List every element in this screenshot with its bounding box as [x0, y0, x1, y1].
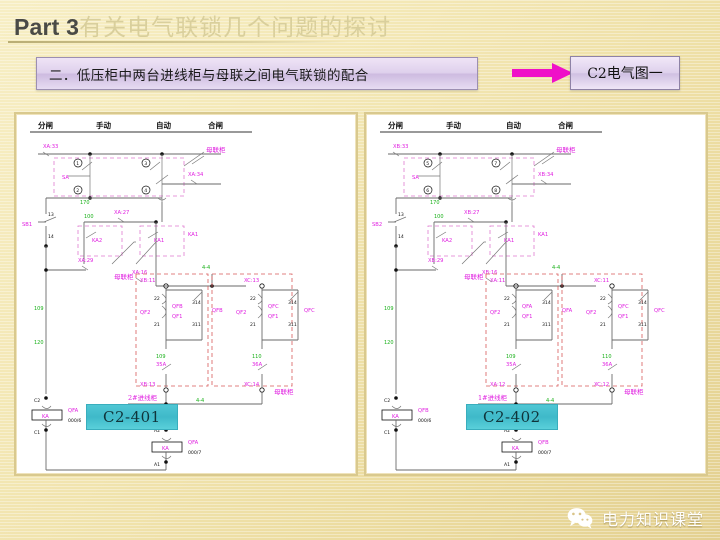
svg-text:KA1: KA1	[188, 232, 198, 238]
svg-text:314: 314	[288, 300, 297, 306]
svg-text:母联柜: 母联柜	[464, 272, 484, 281]
svg-text:QF1: QF1	[522, 314, 532, 320]
svg-text:XC:13: XC:13	[244, 278, 259, 284]
svg-text:4-4: 4-4	[196, 398, 204, 404]
svg-text:13: 13	[48, 212, 54, 218]
svg-text:KA: KA	[162, 446, 169, 452]
svg-text:QFC: QFC	[304, 308, 315, 314]
arrow-icon	[512, 62, 574, 84]
svg-text:120: 120	[34, 340, 44, 346]
svg-text:KA2: KA2	[442, 238, 452, 244]
svg-text:7: 7	[494, 161, 497, 167]
svg-text:13: 13	[398, 212, 404, 218]
svg-text:2#进线柜: 2#进线柜	[128, 393, 158, 402]
svg-text:110: 110	[252, 354, 262, 360]
brand-label: 电力知识课堂	[602, 506, 704, 530]
svg-text:6: 6	[426, 188, 429, 194]
svg-text:109: 109	[34, 306, 44, 312]
svg-text:311: 311	[192, 322, 201, 328]
callout-c2-button[interactable]: C2电气图一	[570, 56, 680, 90]
svg-text:100: 100	[434, 214, 444, 220]
svg-text:手动: 手动	[96, 120, 111, 130]
svg-text:QF2: QF2	[236, 310, 246, 316]
svg-text:8: 8	[494, 188, 497, 194]
svg-text:KA: KA	[392, 414, 399, 420]
svg-text:1#进线柜: 1#进线柜	[478, 393, 508, 402]
svg-text:000/6: 000/6	[418, 418, 431, 424]
title-part-label: Part 3	[14, 14, 79, 40]
svg-text:170: 170	[80, 200, 90, 206]
svg-text:110: 110	[602, 354, 612, 360]
svg-text:109: 109	[384, 306, 394, 312]
svg-text:314: 314	[542, 300, 551, 306]
svg-text:合闸: 合闸	[208, 120, 223, 130]
svg-text:21: 21	[504, 322, 510, 328]
svg-text:XA:11: XA:11	[490, 278, 505, 284]
svg-text:36A: 36A	[252, 362, 263, 368]
svg-text:314: 314	[192, 300, 201, 306]
svg-text:21: 21	[250, 322, 256, 328]
diagram-panel-c2-401[interactable]: 分闸 手动 自动 合闸 XA:33 1 3 2 4 SA	[14, 112, 358, 476]
svg-text:QFA: QFA	[522, 304, 533, 310]
svg-text:C2: C2	[34, 398, 40, 404]
svg-text:22: 22	[504, 296, 510, 302]
svg-text:QF2: QF2	[490, 310, 500, 316]
svg-text:合闸: 合闸	[558, 120, 573, 130]
svg-text:XA:27: XA:27	[114, 210, 129, 216]
svg-text:C1: C1	[384, 430, 390, 436]
title-chinese-label: 有关电气联锁几个问题的探讨	[79, 15, 391, 41]
svg-text:手动: 手动	[446, 120, 461, 130]
svg-text:XB:13: XB:13	[140, 382, 155, 388]
svg-text:QF1: QF1	[172, 314, 182, 320]
svg-text:1: 1	[76, 161, 79, 167]
callout-c2-label: C2电气图一	[587, 63, 663, 83]
svg-text:A1: A1	[154, 462, 160, 468]
svg-text:XB:27: XB:27	[464, 210, 479, 216]
svg-text:311: 311	[542, 322, 551, 328]
svg-text:KA1: KA1	[154, 238, 164, 244]
svg-text:母联柜: 母联柜	[114, 272, 134, 281]
svg-text:母联柜: 母联柜	[206, 145, 226, 154]
title-divider	[8, 41, 348, 43]
wechat-icon	[566, 506, 594, 530]
svg-text:314: 314	[638, 300, 647, 306]
svg-text:XB:16: XB:16	[482, 270, 497, 276]
svg-text:SB2: SB2	[372, 222, 382, 228]
svg-text:XA:34: XA:34	[188, 172, 204, 178]
svg-text:KA: KA	[42, 414, 49, 420]
svg-text:311: 311	[638, 322, 647, 328]
svg-text:XA:12: XA:12	[490, 382, 505, 388]
svg-text:XC:11: XC:11	[594, 278, 609, 284]
subtitle-bar: 二．低压柜中两台进线柜与母联之间电气联锁的配合	[36, 57, 478, 90]
svg-text:分闸: 分闸	[388, 120, 403, 130]
svg-text:22: 22	[600, 296, 606, 302]
svg-text:000/6: 000/6	[68, 418, 81, 424]
svg-text:QF1: QF1	[618, 314, 628, 320]
svg-text:35A: 35A	[506, 362, 517, 368]
svg-text:22: 22	[154, 296, 160, 302]
svg-text:母联柜: 母联柜	[624, 387, 644, 396]
svg-text:C1: C1	[34, 430, 40, 436]
svg-text:4-4: 4-4	[552, 265, 560, 271]
svg-text:母联柜: 母联柜	[556, 145, 576, 154]
svg-text:SB1: SB1	[22, 222, 32, 228]
svg-text:QF2: QF2	[586, 310, 596, 316]
subtitle-text: 二．低压柜中两台进线柜与母联之间电气联锁的配合	[37, 64, 369, 84]
svg-text:分闸: 分闸	[38, 120, 53, 130]
svg-text:QFB: QFB	[538, 440, 549, 446]
svg-text:C2: C2	[384, 398, 390, 404]
svg-text:QFC: QFC	[654, 308, 665, 314]
svg-text:14: 14	[398, 234, 404, 240]
svg-text:21: 21	[600, 322, 606, 328]
svg-text:KA1: KA1	[504, 238, 514, 244]
panel-tag-c2-402: C2-402	[466, 404, 558, 430]
svg-text:KA1: KA1	[538, 232, 548, 238]
svg-text:QFC: QFC	[618, 304, 629, 310]
svg-text:XA:33: XA:33	[43, 144, 58, 150]
svg-text:000/7: 000/7	[538, 450, 551, 456]
svg-text:109: 109	[156, 354, 166, 360]
diagram-panel-c2-402[interactable]: 分闸 手动 自动 合闸 XB:33 5 7 6 8 SA	[364, 112, 708, 476]
svg-text:KA: KA	[512, 446, 519, 452]
svg-text:XA:29: XA:29	[78, 258, 93, 264]
svg-text:311: 311	[288, 322, 297, 328]
svg-text:母联柜: 母联柜	[274, 387, 294, 396]
svg-text:自动: 自动	[506, 120, 521, 130]
svg-text:4-4: 4-4	[202, 265, 210, 271]
slide-root: Part 3有关电气联锁几个问题的探讨 二．低压柜中两台进线柜与母联之间电气联锁…	[0, 0, 720, 540]
svg-text:100: 100	[84, 214, 94, 220]
svg-text:21: 21	[154, 322, 160, 328]
svg-text:170: 170	[430, 200, 440, 206]
svg-text:QF2: QF2	[140, 310, 150, 316]
svg-text:5: 5	[426, 161, 429, 167]
svg-text:XC:14: XC:14	[244, 382, 260, 388]
svg-text:QFB: QFB	[212, 308, 223, 314]
svg-text:QFB: QFB	[172, 304, 183, 310]
svg-text:14: 14	[48, 234, 54, 240]
svg-text:QFB: QFB	[418, 408, 429, 414]
svg-text:35A: 35A	[156, 362, 167, 368]
svg-text:000/7: 000/7	[188, 450, 201, 456]
panel-tag-c2-401: C2-401	[86, 404, 178, 430]
svg-text:4: 4	[144, 188, 147, 194]
svg-text:22: 22	[250, 296, 256, 302]
footer-brand: 电力知识课堂	[566, 506, 704, 530]
svg-text:2: 2	[76, 188, 79, 194]
svg-text:A1: A1	[504, 462, 510, 468]
svg-text:XC:12: XC:12	[594, 382, 609, 388]
svg-text:QF1: QF1	[268, 314, 278, 320]
svg-text:XB:29: XB:29	[428, 258, 443, 264]
svg-text:XB:34: XB:34	[538, 172, 554, 178]
svg-text:120: 120	[384, 340, 394, 346]
svg-text:KA2: KA2	[92, 238, 102, 244]
svg-text:QFA: QFA	[188, 440, 199, 446]
svg-text:XB:11: XB:11	[140, 278, 155, 284]
svg-text:XA:16: XA:16	[132, 270, 147, 276]
svg-text:自动: 自动	[156, 120, 171, 130]
svg-text:36A: 36A	[602, 362, 613, 368]
svg-text:109: 109	[506, 354, 516, 360]
svg-text:QFA: QFA	[68, 408, 79, 414]
svg-text:QFA: QFA	[562, 308, 573, 314]
svg-text:3: 3	[144, 161, 147, 167]
svg-text:XB:33: XB:33	[393, 144, 408, 150]
svg-text:QFC: QFC	[268, 304, 279, 310]
page-title: Part 3有关电气联锁几个问题的探讨	[14, 8, 391, 42]
